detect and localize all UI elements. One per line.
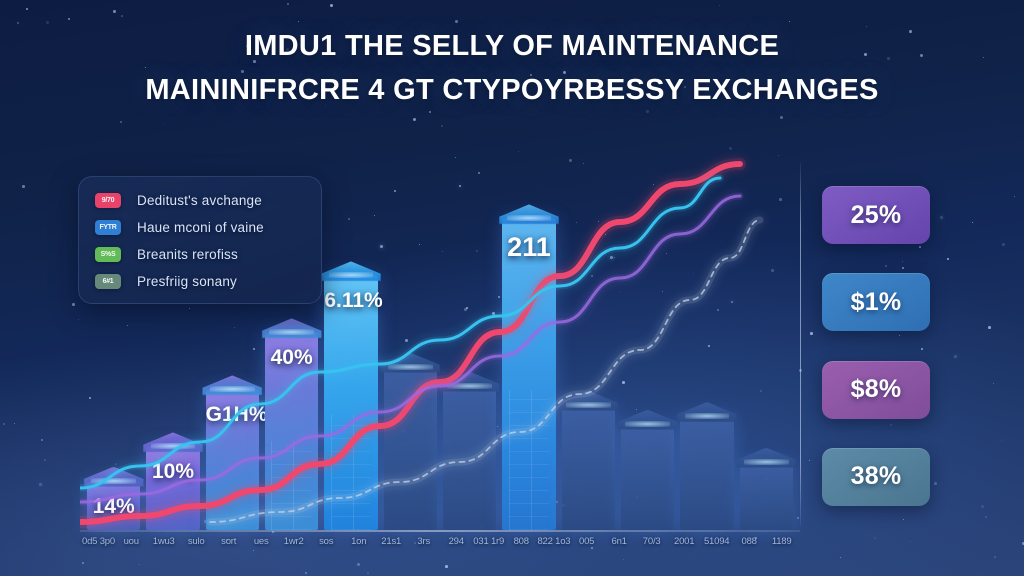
star-particle bbox=[82, 562, 84, 564]
star-particle bbox=[934, 482, 937, 485]
star-particle bbox=[994, 556, 996, 558]
star-particle bbox=[954, 355, 957, 358]
star-particle bbox=[809, 460, 810, 461]
star-particle bbox=[972, 222, 973, 223]
x-tick-18: 2001 bbox=[668, 536, 701, 547]
bar-top-glow bbox=[151, 443, 196, 449]
bar-cap bbox=[380, 353, 440, 373]
star-particle bbox=[947, 258, 949, 260]
star-particle bbox=[623, 559, 624, 560]
legend-item-0[interactable]: 9/70Deditust's avchange bbox=[95, 193, 305, 208]
bar-cap bbox=[618, 410, 678, 430]
bar-cap bbox=[499, 204, 559, 224]
x-tick-16: 6n1 bbox=[603, 536, 636, 547]
star-particle bbox=[298, 21, 299, 22]
star-particle bbox=[874, 537, 876, 539]
star-particle bbox=[22, 185, 25, 188]
vertical-divider bbox=[800, 162, 801, 526]
star-particle bbox=[840, 557, 841, 558]
x-tick-0: 0d5 3p0 bbox=[82, 536, 115, 547]
legend-box: 9/70Deditust's avchangeFYTRHaue mconi of… bbox=[78, 176, 322, 304]
star-particle bbox=[78, 319, 79, 320]
bar-top-glow bbox=[685, 413, 730, 419]
title-line-2: MAININIFRCRE 4 GT CTYPOYRBESSY EXCHANGES bbox=[60, 68, 964, 112]
star-particle bbox=[413, 118, 416, 121]
legend-label: Haue mconi of vaine bbox=[137, 220, 264, 235]
x-tick-12: 031 1r9 bbox=[472, 536, 505, 547]
legend-label: Deditust's avchange bbox=[137, 193, 262, 208]
bar-value-label: 211 bbox=[502, 232, 555, 263]
bar-value-label: G1H% bbox=[206, 403, 259, 427]
star-particle bbox=[1002, 243, 1005, 246]
bar-cap bbox=[262, 318, 322, 338]
star-particle bbox=[139, 564, 140, 565]
star-particle bbox=[39, 483, 42, 486]
star-particle bbox=[113, 10, 116, 13]
star-particle bbox=[41, 439, 43, 441]
x-axis-line bbox=[80, 530, 800, 532]
bar-cap bbox=[736, 448, 796, 468]
bar-0[interactable]: 14% bbox=[87, 481, 140, 530]
bar-top-glow bbox=[625, 421, 670, 427]
title-line-1: IMDU1 THE SELLY OF MAINTENANCE bbox=[60, 24, 964, 68]
chart-canvas: IMDU1 THE SELLY OF MAINTENANCE MAININIFR… bbox=[0, 0, 1024, 576]
star-particle bbox=[719, 5, 720, 6]
legend-item-1[interactable]: FYTRHaue mconi of vaine bbox=[95, 220, 305, 235]
x-tick-4: sort bbox=[212, 536, 245, 547]
star-particle bbox=[330, 4, 333, 7]
star-particle bbox=[940, 216, 943, 219]
star-particle bbox=[1014, 196, 1015, 197]
star-particle bbox=[591, 547, 593, 549]
bar-top-glow bbox=[388, 364, 433, 370]
star-particle bbox=[993, 383, 994, 384]
star-particle bbox=[357, 563, 360, 566]
page-title: IMDU1 THE SELLY OF MAINTENANCE MAININIFR… bbox=[0, 24, 1024, 112]
bar-top-glow bbox=[91, 478, 136, 484]
star-particle bbox=[26, 8, 28, 10]
bar-4[interactable]: 6.11% bbox=[324, 275, 377, 530]
bar-top-glow bbox=[329, 272, 374, 278]
bar-cap bbox=[202, 375, 262, 395]
bar-inner-grid bbox=[331, 415, 372, 530]
star-particle bbox=[120, 121, 122, 123]
bar-top-glow bbox=[566, 402, 611, 408]
x-tick-8: 1on bbox=[342, 536, 375, 547]
metric-badge-0[interactable]: 25% bbox=[822, 186, 930, 244]
bar-10[interactable] bbox=[680, 416, 733, 530]
x-tick-2: 1wu3 bbox=[147, 536, 180, 547]
star-particle bbox=[72, 303, 75, 306]
legend-swatch-icon: 9/70 bbox=[95, 193, 121, 208]
bar-cap bbox=[321, 261, 381, 281]
star-particle bbox=[981, 505, 984, 508]
bar-top-glow bbox=[744, 459, 789, 465]
bar-inner-grid bbox=[509, 390, 550, 530]
bar-3[interactable]: 40% bbox=[265, 332, 318, 530]
bar-6[interactable] bbox=[443, 386, 496, 530]
bar-top-glow bbox=[269, 329, 314, 335]
legend-swatch-icon: FYTR bbox=[95, 220, 121, 235]
legend-item-2[interactable]: S%SBreanits rerofiss bbox=[95, 247, 305, 262]
x-tick-3: sulo bbox=[180, 536, 213, 547]
x-tick-11: 294 bbox=[440, 536, 473, 547]
bar-9[interactable] bbox=[621, 424, 674, 530]
star-particle bbox=[789, 21, 790, 22]
bar-top-glow bbox=[210, 386, 255, 392]
x-tick-7: sos bbox=[310, 536, 343, 547]
bar-1[interactable]: 10% bbox=[146, 446, 199, 530]
x-tick-6: 1wr2 bbox=[277, 536, 310, 547]
bar-top-glow bbox=[447, 383, 492, 389]
bar-7[interactable]: 211 bbox=[502, 218, 555, 530]
star-particle bbox=[903, 519, 904, 520]
bar-cap bbox=[440, 372, 500, 392]
bar-value-label: 14% bbox=[87, 495, 140, 519]
x-tick-9: 21s1 bbox=[375, 536, 408, 547]
star-particle bbox=[985, 516, 987, 518]
star-particle bbox=[441, 125, 443, 127]
star-particle bbox=[287, 3, 289, 5]
metric-badge-3[interactable]: 38% bbox=[822, 448, 930, 506]
x-axis-tick-labels: 0d5 3p0uou1wu3sulosortues1wr2sos1on21s13… bbox=[80, 536, 800, 547]
star-particle bbox=[14, 423, 15, 424]
star-particle bbox=[253, 550, 254, 551]
star-particle bbox=[780, 116, 783, 119]
bar-cap bbox=[143, 432, 203, 452]
x-tick-19: 51094 bbox=[700, 536, 733, 547]
metric-badge-1[interactable]: $1% bbox=[822, 273, 930, 331]
bar-8[interactable] bbox=[562, 405, 615, 530]
legend-item-3[interactable]: 6#1Presfriig sonany bbox=[95, 274, 305, 289]
bar-5[interactable] bbox=[384, 367, 437, 530]
x-tick-15: 005 bbox=[570, 536, 603, 547]
star-particle bbox=[44, 459, 46, 461]
x-tick-5: ues bbox=[245, 536, 278, 547]
star-particle bbox=[68, 18, 70, 20]
star-particle bbox=[3, 423, 5, 425]
star-particle bbox=[1001, 440, 1002, 441]
star-particle bbox=[305, 572, 307, 574]
x-tick-14: 822 1o3 bbox=[537, 536, 570, 547]
bar-cap bbox=[558, 391, 618, 411]
star-particle bbox=[445, 565, 448, 568]
bar-11[interactable] bbox=[740, 462, 793, 530]
x-tick-17: 70/3 bbox=[635, 536, 668, 547]
bar-cap bbox=[84, 467, 144, 487]
star-particle bbox=[988, 326, 991, 329]
star-particle bbox=[910, 541, 911, 542]
bar-2[interactable]: G1H% bbox=[206, 389, 259, 530]
metric-badge-group: 25%$1%$8%38% bbox=[822, 186, 930, 506]
star-particle bbox=[121, 15, 123, 17]
x-tick-13: 808 bbox=[505, 536, 538, 547]
star-particle bbox=[367, 572, 369, 574]
legend-swatch-icon: S%S bbox=[95, 247, 121, 262]
x-tick-1: uou bbox=[115, 536, 148, 547]
bar-cap bbox=[677, 402, 737, 422]
bar-inner-grid bbox=[271, 441, 312, 530]
bar-value-label: 6.11% bbox=[324, 289, 377, 313]
legend-label: Breanits rerofiss bbox=[137, 247, 238, 262]
star-particle bbox=[163, 123, 164, 124]
legend-label: Presfriig sonany bbox=[137, 274, 237, 289]
x-tick-10: 3rs bbox=[407, 536, 440, 547]
bar-value-label: 40% bbox=[265, 346, 318, 370]
bar-value-label: 10% bbox=[146, 460, 199, 484]
star-particle bbox=[810, 332, 813, 335]
x-tick-20: 088 bbox=[733, 536, 766, 547]
metric-badge-2[interactable]: $8% bbox=[822, 361, 930, 419]
bar-top-glow bbox=[507, 215, 552, 221]
star-particle bbox=[455, 20, 458, 23]
x-tick-21: 1189 bbox=[765, 536, 798, 547]
legend-swatch-icon: 6#1 bbox=[95, 274, 121, 289]
